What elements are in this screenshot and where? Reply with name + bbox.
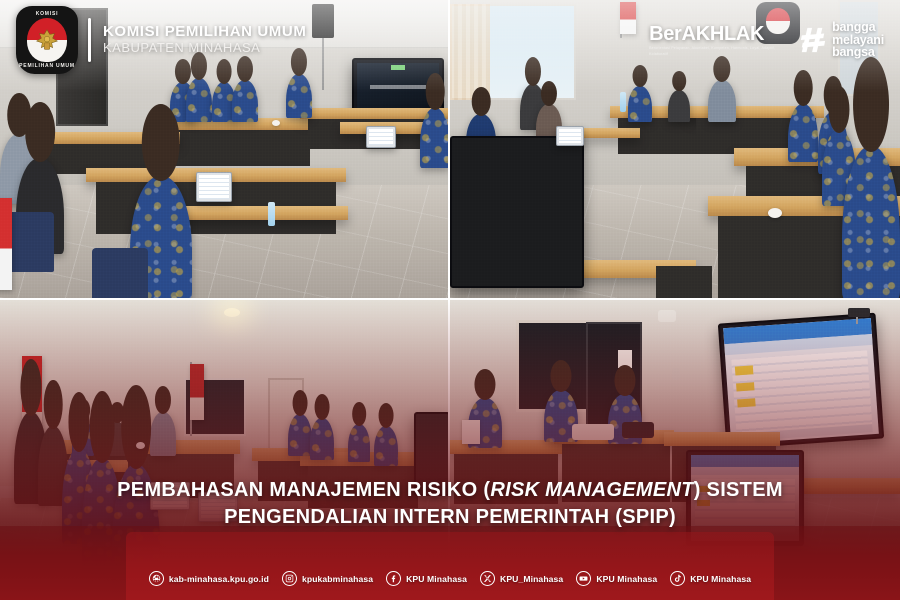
social-facebook[interactable]: KPU Minahasa [386,571,467,586]
youtube-icon [576,571,591,586]
social-instagram-label: kpukabminahasa [302,574,373,584]
caption-line-2: PENGENDALIAN INTERN PEMERINTAH (SPIP) [40,504,860,532]
kpu-logo: KOMISI PEMILIHAN UMUM [16,6,78,74]
caption-block: PEMBAHASAN MANAJEMEN RISIKO (RISK MANAGE… [0,477,900,532]
social-youtube-label: KPU Minahasa [596,574,657,584]
social-links-bar: kab-minahasa.kpu.go.id kpukabminahasa KP… [0,571,900,586]
social-x-twitter-label: KPU_Minahasa [500,574,563,584]
social-x-twitter[interactable]: KPU_Minahasa [480,571,563,586]
caption-line-1-after: ) SISTEM [694,479,783,501]
header-divider [88,18,91,62]
social-tiktok[interactable]: KPU Minahasa [670,571,751,586]
social-instagram[interactable]: kpukabminahasa [282,571,373,586]
berakhlak-prefix: Ber [649,23,681,45]
tv-display-back [450,136,584,288]
social-youtube[interactable]: KPU Minahasa [576,571,657,586]
title-line-1: KOMISI PEMILIHAN UMUM [103,24,306,41]
instagram-icon [282,571,297,586]
poster-canvas: KOMISI PEMILIHAN UMUM KOMISI PEMILIHAN U… [0,0,900,600]
bangga-line-3: bangsa [832,46,884,59]
caption-line-1-italic: RISK MANAGEMENT [490,479,693,501]
page-title: KOMISI PEMILIHAN UMUM KABUPATEN MINAHASA [103,24,306,55]
caption-line-1: PEMBAHASAN MANAJEMEN RISIKO (RISK MANAGE… [40,477,860,505]
tv-presentation-display [718,313,884,450]
laptop-icon [196,172,232,202]
photo-meeting-room-night [0,300,450,600]
tiktok-icon [670,571,685,586]
header-right-logos: BerAKHLAK Berorientasi Pelayanan, Akunta… [649,21,884,59]
kpu-logo-top-text: KOMISI [16,11,78,17]
laptop-icon [366,126,396,148]
bangga-wordmark: bangga melayani bangsa [832,21,884,59]
berakhlak-wordmark: BerAKHLAK [649,23,789,46]
facebook-icon [386,571,401,586]
bangga-mark-icon [799,25,827,55]
berakhlak-tagline: Berorientasi Pelayanan, Akuntabel, Kompe… [649,46,789,57]
kpu-logo-bottom-text: PEMILIHAN UMUM [16,63,78,69]
berakhlak-suffix: AKHLAK [682,23,765,45]
globe-icon [149,571,164,586]
bangga-line-1: bangga [832,21,884,34]
social-tiktok-label: KPU Minahasa [690,574,751,584]
berakhlak-logo: BerAKHLAK Berorientasi Pelayanan, Akunta… [649,23,789,57]
bangga-melayani-bangsa-logo: bangga melayani bangsa [799,21,884,59]
social-facebook-label: KPU Minahasa [406,574,467,584]
caption-line-1-before: PEMBAHASAN MANAJEMEN RISIKO ( [117,479,490,501]
social-website[interactable]: kab-minahasa.kpu.go.id [149,571,269,586]
header-bar: KOMISI PEMILIHAN UMUM KOMISI PEMILIHAN U… [0,0,900,80]
garuda-icon [32,26,62,56]
x-twitter-icon [480,571,495,586]
social-website-label: kab-minahasa.kpu.go.id [169,574,269,584]
title-line-2: KABUPATEN MINAHASA [103,41,306,56]
photo-presentation-screen [450,300,900,600]
